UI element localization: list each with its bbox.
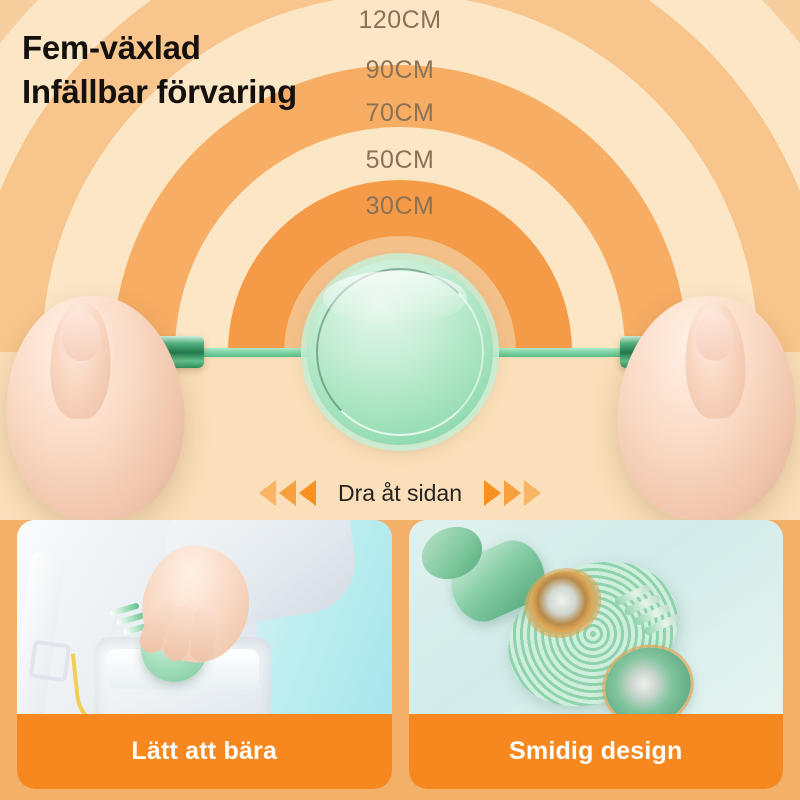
feature-panel-portability: Lätt att bära (17, 520, 392, 789)
distance-label-70cm: 70CM (366, 99, 435, 128)
chevron-right-icon (484, 480, 501, 506)
retractable-cable-puck (307, 259, 493, 445)
hero-section: 120CM 90CM 70CM 50CM 30CM Fem-växlad Inf… (0, 0, 800, 520)
headline: Fem-växlad Infällbar förvaring (22, 26, 297, 113)
chevron-left-icon (299, 480, 316, 506)
pull-hint-row: Dra åt sidan (0, 470, 800, 516)
thumb-right (683, 301, 747, 419)
product-poster: 120CM 90CM 70CM 50CM 30CM Fem-växlad Inf… (0, 0, 800, 800)
panel-caption-bar: Smidig design (409, 714, 784, 789)
headline-line-2: Infällbar förvaring (22, 70, 297, 114)
headline-line-1: Fem-växlad (22, 26, 297, 70)
photo-bag-scene (17, 520, 392, 725)
feature-panels: Lätt att bära Smidig design (0, 520, 800, 800)
chevron-left-icon (259, 480, 276, 506)
distance-label-30cm: 30CM (366, 192, 435, 221)
chevron-left-icon (279, 480, 296, 506)
thumb-left (49, 302, 113, 420)
distance-label-90cm: 90CM (366, 56, 435, 85)
photo-exploded-view (409, 520, 784, 725)
chevron-right-icon (504, 480, 521, 506)
panel-caption-text: Lätt att bära (131, 737, 277, 766)
arrows-left (259, 480, 316, 506)
thumbnail-left (62, 312, 102, 361)
arrows-right (484, 480, 541, 506)
panel-caption-text: Smidig design (509, 737, 682, 766)
thumbnail-right (695, 312, 735, 361)
chevron-right-icon (524, 480, 541, 506)
distance-label-50cm: 50CM (366, 146, 435, 175)
distance-label-120cm: 120CM (358, 6, 441, 35)
strap-buckle (29, 640, 72, 683)
panel-caption-bar: Lätt att bära (17, 714, 392, 789)
pull-hint-label: Dra åt sidan (338, 480, 462, 507)
feature-panel-design: Smidig design (409, 520, 784, 789)
